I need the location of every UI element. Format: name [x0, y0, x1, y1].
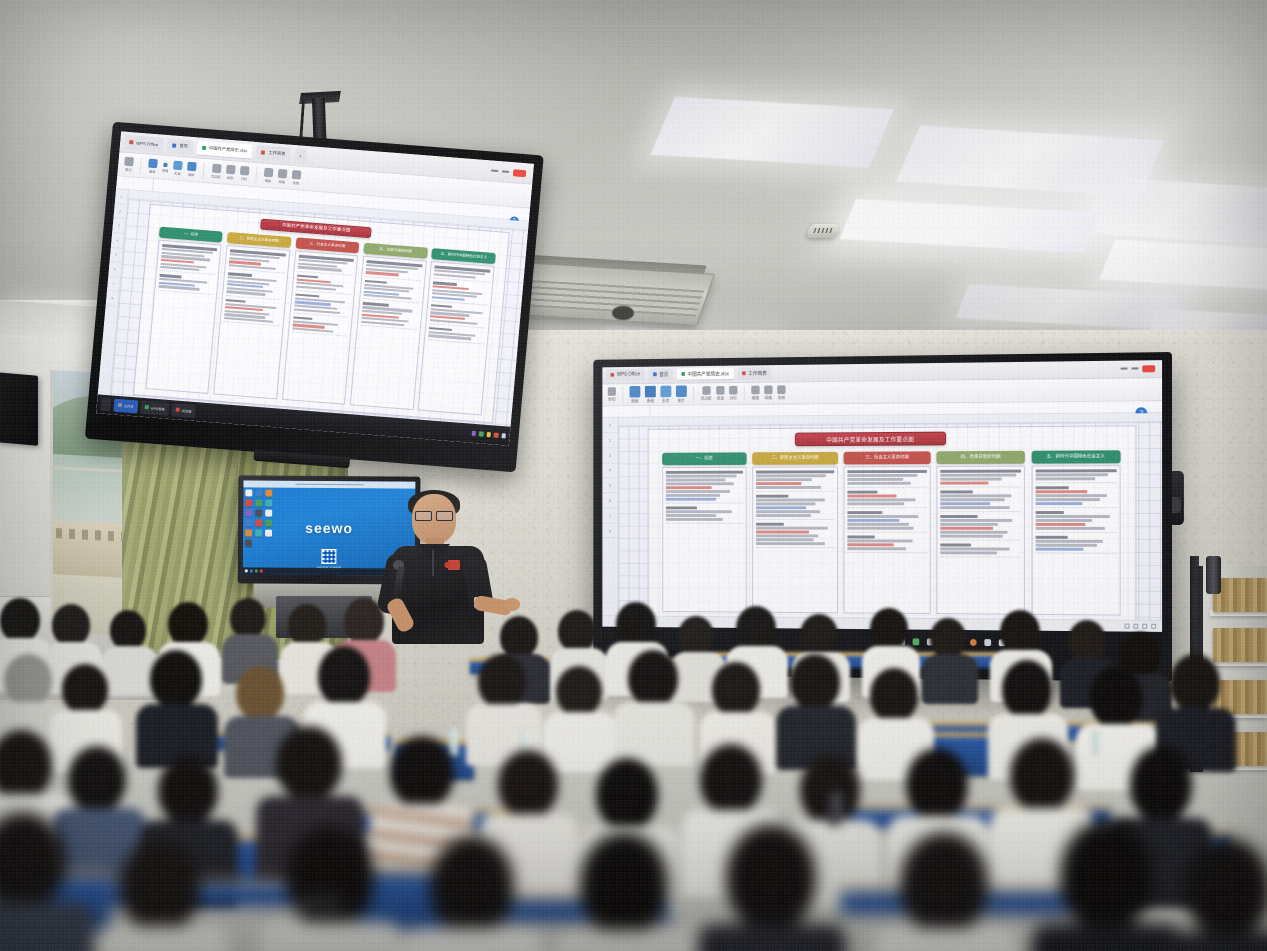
ribbon-button[interactable]: 形状 [660, 385, 671, 403]
folder-icon [118, 403, 122, 407]
ribbon-group-layout[interactable]: 页边距 纸张 分栏 [701, 386, 738, 402]
app-tab-label: WPS Office [617, 372, 640, 378]
spreadsheet-grid[interactable]: 中国共产党革命发展及工作要点图 一、综述 [110, 199, 528, 433]
tv-bezel: WPS Office 首页 中国共产党简史.xlsx 工作简表 [85, 122, 544, 473]
notification-icon[interactable] [494, 433, 499, 438]
taskbar-item[interactable]: 浏览器 [171, 403, 196, 418]
workbook-icon [202, 146, 206, 150]
ribbon-group-clipboard[interactable]: 剪切 [608, 387, 616, 402]
board-side-button[interactable] [1172, 497, 1181, 513]
wps-icon[interactable] [245, 499, 252, 506]
image-icon [676, 385, 687, 397]
chart-icon [148, 159, 158, 169]
ribbon-button[interactable]: 表格 [162, 162, 169, 172]
ribbon-label: 图片 [188, 172, 195, 177]
thermos-bottle [828, 792, 842, 826]
name-box[interactable] [602, 406, 650, 417]
content-column: 三、社会主义革命时期 [282, 238, 360, 405]
ribbon-button[interactable]: 缩放 [263, 168, 273, 184]
ribbon-button[interactable]: 剪切 [124, 157, 134, 173]
wall-speaker [0, 372, 38, 446]
ribbon-button[interactable]: 网格 [764, 386, 772, 402]
margins-icon [212, 164, 222, 174]
desktop-icons[interactable] [245, 489, 279, 546]
home-icon [653, 373, 657, 377]
app-tab-label: 工作简表 [268, 150, 286, 157]
system-tray[interactable] [471, 431, 506, 438]
ribbon-button[interactable]: 纸张 [225, 165, 235, 181]
ribbon-button[interactable]: 图片 [187, 162, 197, 178]
ribbon-button[interactable]: 分栏 [239, 166, 249, 182]
qr-code-icon [321, 549, 336, 564]
ribbon-label: 分栏 [241, 176, 248, 181]
volume-icon[interactable] [486, 432, 491, 437]
ribbon-separator [255, 167, 257, 183]
settings-icon[interactable] [255, 509, 262, 516]
ribbon-label: 页边距 [701, 396, 712, 402]
ribbon-group-view[interactable]: 缩放 网格 冻结 [751, 385, 785, 401]
browser-icon[interactable] [265, 490, 272, 497]
glasses-icon [415, 511, 453, 519]
taskbar-item[interactable]: WPS表格 [140, 401, 169, 416]
lecture-hall-photo: WPS Office 首页 中国共产党简史.xlsx 工作简表 [0, 0, 1267, 951]
home-icon [172, 144, 176, 148]
hanging-tv: WPS Office 首页 中国共产党简史.xlsx 工作简表 [84, 122, 543, 479]
zoom-icon [751, 386, 759, 395]
ribbon-label: 纸张 [227, 175, 234, 180]
grid-icon [278, 169, 288, 179]
ribbon-button[interactable]: 图片 [676, 385, 687, 403]
ribbon-separator [744, 386, 745, 401]
ribbon-separator [693, 386, 694, 401]
app-tab[interactable]: WPS Office [606, 369, 645, 381]
taskbar-label: 文件夹 [124, 403, 134, 409]
paper-icon [716, 386, 724, 395]
app-tab[interactable]: 首页 [167, 138, 194, 155]
wps-icon [144, 405, 148, 409]
ribbon-separator [622, 387, 623, 402]
minimize-icon[interactable] [1121, 368, 1128, 370]
column-body [213, 245, 290, 399]
shirt-logo [442, 560, 460, 570]
ribbon-separator [140, 158, 142, 174]
margins-icon [702, 386, 710, 395]
window-controls [1121, 365, 1159, 372]
ribbon-label: 冻结 [292, 180, 299, 185]
ribbon-group-insert[interactable]: 图表 表格 形状 图片 [148, 159, 198, 178]
seewo-topbar[interactable] [243, 480, 415, 488]
app-tab-label: 中国共产党简史.xlsx [209, 145, 248, 154]
taskbar-item[interactable]: 文件夹 [113, 399, 138, 414]
maximize-icon[interactable] [1131, 368, 1138, 370]
plus-icon: + [299, 153, 302, 158]
workbook-icon [742, 372, 746, 376]
ribbon-button[interactable]: 形状 [173, 161, 183, 177]
ribbon-group-view[interactable]: 缩放 网格 冻结 [263, 168, 301, 186]
ribbon-label: 形状 [174, 171, 181, 176]
ribbon-button[interactable]: 图表 [629, 386, 640, 404]
ribbon-group-layout[interactable]: 页边距 纸张 分栏 [211, 164, 250, 182]
tray-icon[interactable] [471, 431, 476, 436]
column-body [282, 251, 359, 405]
content-column: 五、新时代中国特色社会主义 [418, 248, 496, 415]
maximize-icon[interactable] [502, 170, 509, 173]
photos-icon[interactable] [265, 500, 272, 507]
app-tab-label: 首页 [179, 143, 188, 150]
image-icon [187, 162, 197, 172]
network-icon[interactable] [265, 510, 272, 517]
smartphone [296, 898, 342, 910]
table-icon [163, 163, 167, 167]
freeze-icon [777, 385, 785, 394]
app-tab-active[interactable]: 中国共产党简史.xlsx [196, 140, 253, 159]
video-player-icon[interactable] [255, 499, 262, 506]
ribbon-label: 剪切 [608, 397, 615, 403]
network-icon[interactable] [479, 431, 484, 436]
new-tab-button[interactable]: + [294, 148, 308, 164]
column-body [350, 256, 427, 410]
app-tab[interactable]: WPS Office [124, 134, 164, 152]
ribbon-button[interactable]: 网格 [277, 169, 287, 185]
shapes-icon [173, 161, 183, 171]
water-bottle [448, 728, 458, 756]
taskbar-label: WPS表格 [150, 405, 165, 411]
shapes-icon [660, 385, 671, 397]
cut-icon [608, 387, 616, 396]
column-badge: 一、综述 [662, 452, 746, 465]
ribbon-label: 表格 [162, 167, 169, 172]
app-tab-label: 中国共产党简史.xlsx [688, 370, 729, 377]
cut-icon [124, 157, 134, 167]
app-icon [610, 373, 614, 377]
app-tab[interactable]: 首页 [648, 368, 673, 380]
document-title-banner: 中国共产党革命发展及工作要点图 [795, 432, 946, 446]
presenter-placket [432, 550, 434, 576]
ribbon-button[interactable]: 冻结 [291, 170, 301, 186]
document-columns: 一、综述 二、新民主主义革命时期 [145, 227, 496, 416]
ac-sensor-icon [612, 306, 634, 320]
ribbon-group-insert[interactable]: 图表 表格 形状 图片 [629, 385, 686, 404]
column-body [145, 240, 222, 394]
app-tab-label: WPS Office [136, 140, 159, 147]
content-column: 四、改革开放新时期 [350, 243, 428, 410]
ribbon-label: 缩放 [264, 178, 271, 183]
ribbon-button[interactable]: 页边距 [211, 164, 222, 180]
ribbon-label: 纸张 [717, 396, 724, 402]
ribbon-button[interactable]: 表格 [645, 385, 656, 403]
app-icon [129, 140, 133, 144]
paper-icon [226, 165, 236, 175]
start-button-icon[interactable] [100, 397, 111, 411]
ribbon-label: 缩放 [752, 395, 759, 401]
app-tab[interactable]: 工作简表 [256, 145, 291, 163]
water-bottle [1092, 730, 1102, 756]
taskbar-label: 浏览器 [181, 408, 191, 414]
freeze-icon [292, 170, 302, 180]
column-badge: 四、改革开放新时期 [937, 451, 1025, 464]
ribbon-button[interactable]: 纸张 [716, 386, 724, 401]
terminal-icon[interactable] [245, 539, 252, 546]
ribbon-label: 网格 [765, 395, 772, 401]
ribbon-label: 图表 [631, 398, 638, 404]
chart-icon [629, 386, 640, 398]
grid-icon [764, 386, 772, 395]
workbook-icon [681, 372, 685, 376]
browser-icon [176, 408, 180, 412]
zoom-icon [264, 168, 274, 178]
column-body [418, 261, 495, 415]
window-controls [491, 167, 530, 177]
content-column: 一、综述 [145, 227, 223, 394]
app-tab[interactable]: 工作简表 [737, 367, 771, 379]
ribbon-label: 冻结 [778, 395, 785, 401]
ac-louvre [513, 279, 704, 316]
close-icon[interactable] [513, 169, 527, 177]
taskbar-icon[interactable] [260, 570, 263, 573]
close-icon[interactable] [1142, 365, 1155, 372]
ribbon-label: 表格 [647, 398, 654, 404]
ribbon-separator [203, 163, 205, 179]
column-badge: 五、新时代中国特色社会主义 [1031, 450, 1120, 463]
columns-icon [729, 386, 737, 395]
ribbon-label: 页边距 [211, 174, 221, 180]
document-canvas: 中国共产党革命发展及工作要点图 一、综述 [133, 204, 510, 423]
ribbon-button[interactable]: 缩放 [751, 386, 759, 402]
taskbar-icon[interactable] [250, 569, 253, 572]
tv-screen[interactable]: WPS Office 首页 中国共产党简史.xlsx 工作简表 [96, 131, 534, 445]
ribbon-button[interactable]: 页边距 [701, 386, 712, 402]
notes-icon[interactable] [245, 509, 252, 516]
my-computer-icon[interactable] [245, 489, 252, 496]
ribbon-button[interactable]: 分栏 [729, 386, 737, 402]
app-tab-active[interactable]: 中国共产党简史.xlsx [677, 368, 734, 381]
ribbon-label: 形状 [662, 398, 669, 404]
clock-icon[interactable] [501, 433, 506, 438]
ribbon-label: 网格 [278, 179, 285, 184]
ribbon-button[interactable]: 图表 [148, 159, 158, 175]
ribbon-label: 图表 [149, 169, 156, 174]
recycle-bin-icon[interactable] [255, 489, 262, 496]
ribbon-label: 剪切 [125, 167, 132, 172]
table-icon [645, 385, 656, 397]
ribbon-button[interactable]: 冻结 [777, 385, 785, 401]
app-tab-label: 首页 [659, 371, 668, 378]
ribbon-label: 图片 [678, 398, 685, 404]
app-tab-label: 工作简表 [748, 370, 767, 377]
workbook-icon [261, 151, 265, 155]
taskbar-icon[interactable] [255, 569, 258, 572]
ribbon-label: 分栏 [730, 396, 737, 402]
ribbon-group-clipboard[interactable]: 剪切 [124, 157, 134, 173]
minimize-icon[interactable] [491, 170, 498, 173]
content-column: 二、新民主主义革命时期 [213, 232, 291, 399]
start-button-icon[interactable] [245, 569, 248, 572]
columns-icon [240, 166, 250, 176]
ribbon-button[interactable]: 剪切 [608, 387, 616, 402]
audience-area [0, 580, 1267, 951]
column-badge: 二、新民主主义革命时期 [753, 452, 838, 465]
column-badge: 三、社会主义革命时期 [844, 451, 930, 464]
